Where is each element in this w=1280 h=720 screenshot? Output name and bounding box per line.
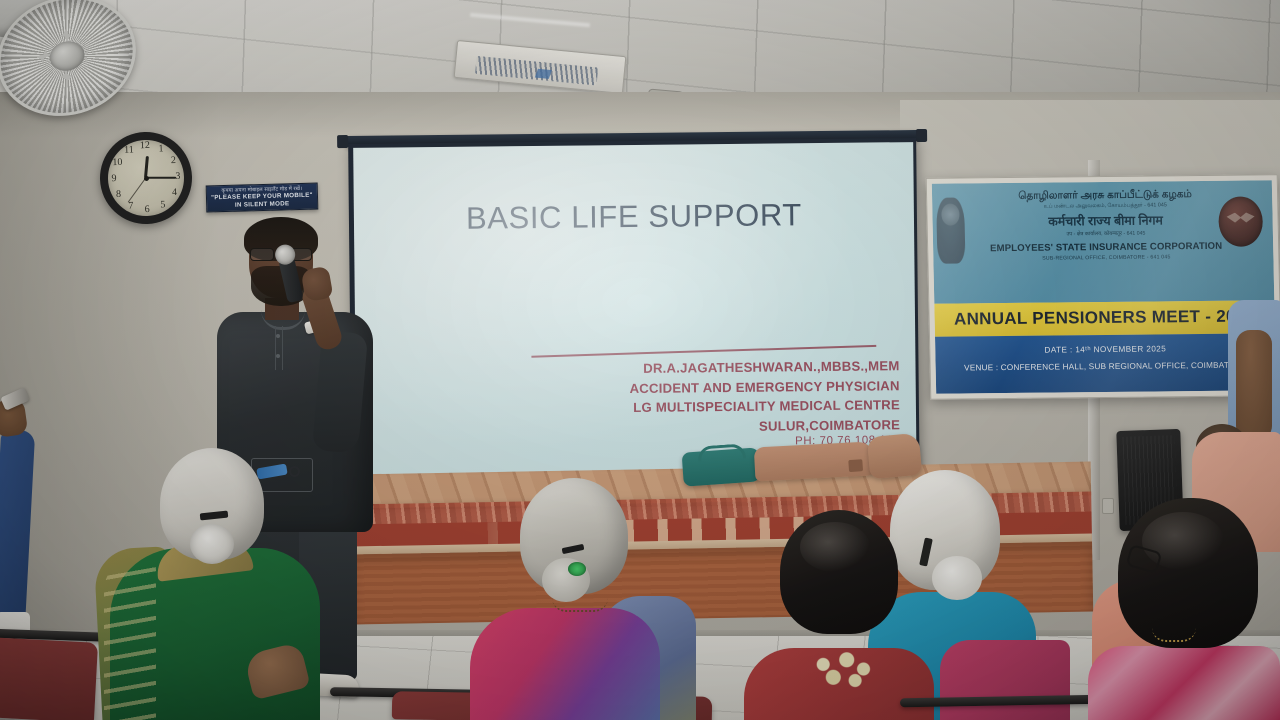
hair-bun xyxy=(932,556,982,600)
banner-date: DATE : 14ᵗʰ NOVEMBER 2025 xyxy=(935,341,1275,358)
clock-numeral: 11 xyxy=(122,144,136,156)
ac-vent-highlight xyxy=(534,69,551,79)
banner-hindi-line-2: उप - क्षेत्र कार्यालय, कोयम्बतूर - 641 0… xyxy=(979,229,1233,240)
screen-endcap-right xyxy=(916,129,927,142)
glasses-lens-left xyxy=(250,248,274,261)
screen-endcap-left xyxy=(337,135,348,148)
neck-chain xyxy=(552,598,608,612)
banner-inner: தொழிலாளர் அரசு காப்பீட்டுக் கழகம் உப் மண… xyxy=(932,180,1276,394)
silent-mode-sign: कृपया अपना मोबाइल साइलेंट मोड में रखें। … xyxy=(206,183,319,213)
banner-headline-band: ANNUAL PENSIONERS MEET - 2025 xyxy=(934,300,1275,337)
cpr-manikin-chestplate xyxy=(848,459,863,472)
banner-header-section: தொழிலாளர் அரசு காப்பீட்டுக் கழகம் உப் மண… xyxy=(932,180,1275,303)
banner-org-name: EMPLOYEES' STATE INSURANCE CORPORATION xyxy=(979,240,1233,256)
saree-maroon xyxy=(940,640,1070,720)
presenter-pocket-ring xyxy=(289,466,300,477)
wall-socket xyxy=(1102,498,1114,514)
clock-numeral: 8 xyxy=(111,189,125,201)
esic-event-banner: தொழிலாளர் அரசு காப்பீட்டுக் கழகம் உப் மண… xyxy=(926,174,1280,400)
banner-headline: ANNUAL PENSIONERS MEET - 2025 xyxy=(954,307,1256,330)
clock-numeral: 10 xyxy=(110,157,124,169)
cpr-manikin-head xyxy=(867,433,922,479)
clock-numeral: 2 xyxy=(166,155,180,167)
clock-numeral: 5 xyxy=(156,199,170,211)
clock-numeral: 4 xyxy=(167,187,181,199)
saree-pink-print xyxy=(1088,646,1280,720)
clock-second-hand xyxy=(128,178,147,203)
screen-frame: BASIC LIFE SUPPORT DR.A.JAGATHESHWARAN.,… xyxy=(348,138,920,496)
clock-center-pin xyxy=(143,175,148,180)
sign-english-line2: IN SILENT MODE xyxy=(235,200,290,209)
banner-details-section: DATE : 14ᵗʰ NOVEMBER 2025 VENUE : CONFER… xyxy=(935,333,1276,393)
presenter-button xyxy=(276,334,280,338)
saree-pink-purple xyxy=(470,608,660,720)
fan-cage xyxy=(0,0,147,120)
presenter-button xyxy=(276,354,280,358)
slide-surface: BASIC LIFE SUPPORT DR.A.JAGATHESHWARAN.,… xyxy=(353,142,917,492)
hair-sheen xyxy=(800,522,870,572)
banner-frame: தொழிலாளர் அரசு காப்பீட்டுக் கழகம் உப் மண… xyxy=(926,174,1280,400)
wall-fan-icon xyxy=(0,0,180,153)
chair-back xyxy=(0,637,98,720)
clock-numeral: 6 xyxy=(140,204,154,216)
clock-hour-hand xyxy=(144,156,149,178)
slide-title: BASIC LIFE SUPPORT xyxy=(354,196,914,238)
india-emblem-icon xyxy=(936,197,965,263)
clock-numeral: 12 xyxy=(138,140,152,152)
banner-venue: VENUE : CONFERENCE HALL, SUB REGIONAL OF… xyxy=(936,358,1276,375)
clock-numeral: 7 xyxy=(124,200,138,212)
clock-face: 12 1 2 3 4 5 6 7 8 9 10 11 xyxy=(107,139,186,218)
slide-presenter-block: DR.A.JAGATHESHWARAN.,MBBS.,MEM ACCIDENT … xyxy=(499,356,900,438)
hair-bun xyxy=(190,524,234,564)
esic-logo-icon xyxy=(1218,196,1263,246)
slide-divider-rule xyxy=(531,345,876,358)
saree-pattern xyxy=(104,560,156,720)
manikin-carry-bag xyxy=(682,447,762,486)
clock-numeral: 1 xyxy=(154,143,168,155)
banner-tamil-line-2: உப் மண்டல அலுவலகம், கோயம்பத்தூர் - 641 0… xyxy=(978,201,1232,212)
hair-tie xyxy=(568,562,586,576)
jasmine-flowers-icon xyxy=(798,646,882,692)
clock-numeral: 9 xyxy=(107,173,121,185)
audience-man-arm xyxy=(1236,330,1272,440)
photo-scene: 12 1 2 3 4 5 6 7 8 9 10 11 कृपया अपना मो… xyxy=(0,0,1280,720)
presenter-placket xyxy=(275,326,283,370)
